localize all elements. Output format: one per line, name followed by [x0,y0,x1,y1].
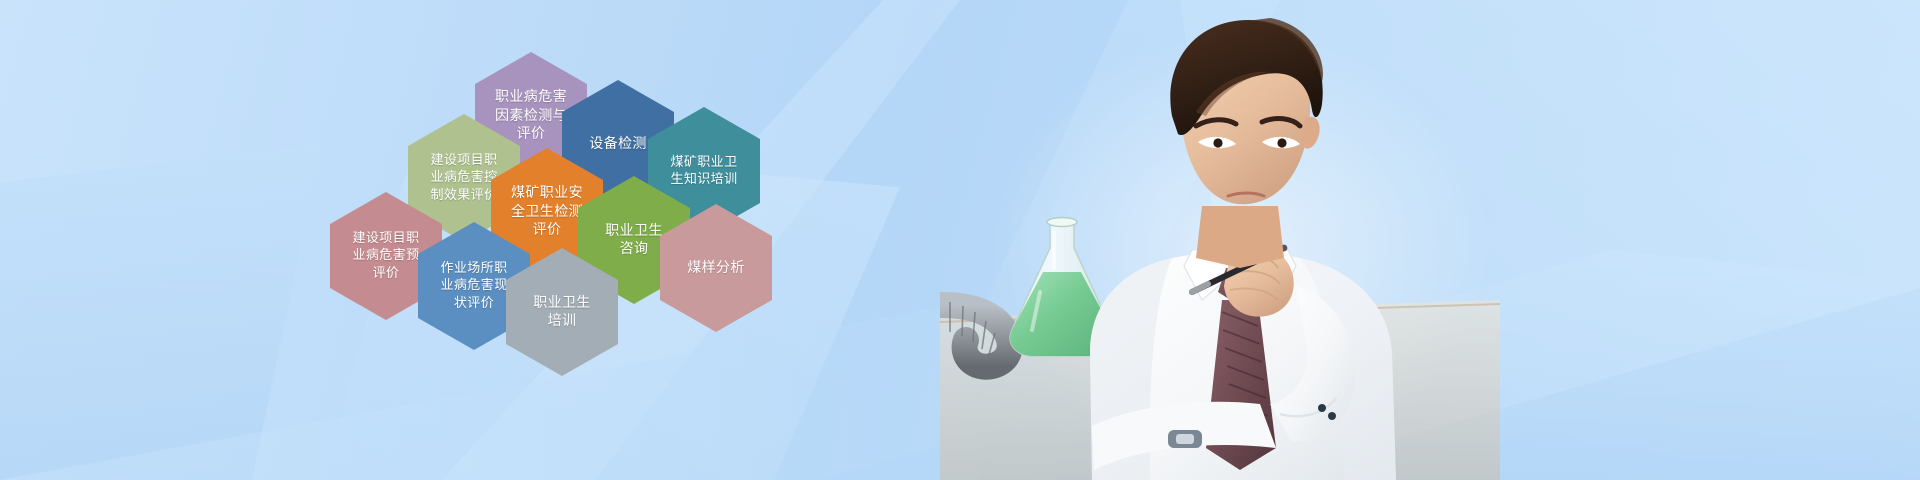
cuff-button-2 [1328,412,1336,420]
banner-root: 职业病危害因素检测与评价设备检测煤矿职业卫生知识培训建设项目职业病危害控制效果评… [0,0,1920,480]
neck [1196,206,1284,268]
hexagon-cluster: 职业病危害因素检测与评价设备检测煤矿职业卫生知识培训建设项目职业病危害控制效果评… [330,52,950,352]
hexagon-label: 设备检测 [579,135,657,153]
photo-svg [940,0,1500,480]
hexagon-label: 煤矿职业卫生知识培训 [660,154,747,188]
pupil-right [1277,138,1286,147]
wristwatch-icon [1168,430,1202,448]
hexagon-label: 煤样分析 [677,259,755,277]
hexagon-label: 建设项目职业病危害预评价 [342,230,429,281]
hexagon-label: 作业场所职业病危害现状评价 [430,260,517,311]
pupil-left [1213,138,1222,147]
photo-businessman-with-flask [940,0,1500,480]
hexagon-label: 职业卫生培训 [523,294,601,331]
cuff-button-1 [1318,404,1326,412]
